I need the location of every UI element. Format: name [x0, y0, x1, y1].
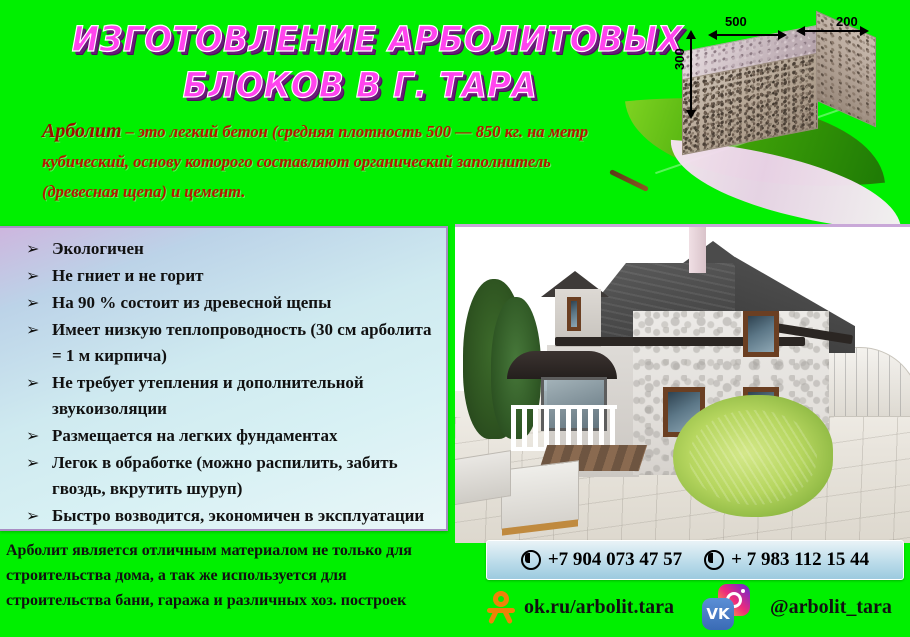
phone-icon: [521, 550, 541, 570]
instagram-vk-link[interactable]: VK @arbolit_tara: [674, 584, 892, 630]
poster-canvas: ИЗГОТОВЛЕНИЕ АРБОЛИТОВЫХ БЛОКОВ В Г. ТАР…: [0, 0, 910, 637]
social-links-row: ok.ru/arbolit.tara VK @arbolit_tara: [486, 582, 902, 632]
list-item-label: Не требует утепления и дополнительной зв…: [52, 373, 364, 418]
intro-line-2: кубический, основу которого составляют о…: [42, 149, 682, 175]
summary-text: Арболит является отличным материалом не …: [6, 538, 466, 613]
house-scene: [455, 227, 910, 543]
chevron-bullet-icon: ➢: [26, 290, 39, 316]
features-panel: ➢ Экологичен ➢ Не гниет и не горит ➢ На …: [0, 226, 448, 531]
summary-line-2: строительства дома, а так же используетс…: [6, 563, 466, 588]
dimension-line-width: [800, 30, 866, 32]
list-item: ➢ Имеет низкую теплопроводность (30 см а…: [22, 317, 436, 369]
intro-paragraph: Арболит – это легкий бетон (средняя плот…: [42, 118, 682, 209]
phone-number-2-label: + 7 983 112 15 44: [731, 549, 869, 571]
window: [743, 311, 779, 357]
odnoklassniki-handle: ok.ru/arbolit.tara: [524, 596, 674, 619]
dimension-line-length: [712, 34, 784, 36]
odnoklassniki-icon: [486, 591, 516, 623]
arrow-head-left-width: [796, 26, 805, 36]
ok-arms-shape: [487, 608, 515, 613]
arrow-head-left-length: [708, 30, 717, 40]
list-item: ➢ Не гниет и не горит: [22, 263, 436, 289]
summary-line-1: Арболит является отличным материалом не …: [6, 538, 466, 563]
chevron-bullet-icon: ➢: [26, 423, 39, 449]
block-pallet: [501, 460, 579, 530]
list-item: ➢ Быстро возводится, экономичен в эксплу…: [22, 503, 436, 529]
list-item-label: На 90 % состоит из древесной щепы: [52, 293, 331, 312]
dimension-label-length: 500: [725, 14, 747, 29]
summary-line-3: строительства бани, гаража и различных х…: [6, 588, 466, 613]
phone-number-1[interactable]: +7 904 073 47 57: [521, 549, 682, 571]
list-item-label: Экологичен: [52, 239, 144, 258]
instagram-handle: @arbolit_tara: [770, 596, 892, 619]
chevron-bullet-icon: ➢: [26, 263, 39, 289]
arrow-head-right-length: [778, 30, 787, 40]
intro-line-3: (древесная щепа) и цемент.: [42, 179, 682, 205]
phone-icon: [704, 550, 724, 570]
phone-number-1-label: +7 904 073 47 57: [548, 549, 682, 571]
contact-panel: +7 904 073 47 57 + 7 983 112 15 44: [486, 540, 904, 580]
social-icon-cluster: VK: [696, 584, 762, 630]
chimney: [689, 224, 706, 273]
list-item: ➢ Экологичен: [22, 236, 436, 262]
chevron-bullet-icon: ➢: [26, 236, 39, 262]
dimension-line-height: [690, 36, 692, 114]
intro-text-1: – это легкий бетон (средняя плотность 50…: [122, 122, 589, 141]
intro-lead-word: Арболит: [42, 120, 122, 142]
title-line-1: ИЗГОТОВЛЕНИЕ АРБОЛИТОВЫХ: [72, 18, 649, 62]
ok-head-shape: [493, 591, 509, 607]
list-item-label: Быстро возводится, экономичен в эксплуат…: [52, 506, 424, 525]
list-item: ➢ Легок в обработке (можно распилить, за…: [22, 450, 436, 502]
vk-icon[interactable]: VK: [702, 598, 734, 630]
bush-icon: [673, 395, 833, 517]
title-line-2: БЛОКОВ В Г. ТАРА: [72, 64, 649, 108]
list-item-label: Размещается на легких фундаментах: [52, 426, 337, 445]
list-item-label: Имеет низкую теплопроводность (30 см арб…: [52, 320, 432, 365]
chevron-bullet-icon: ➢: [26, 317, 39, 343]
chevron-bullet-icon: ➢: [26, 450, 39, 476]
phone-number-2[interactable]: + 7 983 112 15 44: [704, 549, 869, 571]
list-item: ➢ Размещается на легких фундаментах: [22, 423, 436, 449]
dimension-label-width: 200: [836, 14, 858, 29]
house-photo: [455, 224, 910, 543]
intro-line-1: Арболит – это легкий бетон (средняя плот…: [42, 118, 682, 145]
list-item-label: Не гниет и не горит: [52, 266, 204, 285]
features-list: ➢ Экологичен ➢ Не гниет и не горит ➢ На …: [22, 236, 436, 529]
window: [567, 297, 581, 331]
list-item-label: Легок в обработке (можно распилить, заби…: [52, 453, 398, 498]
porch-roof: [507, 351, 617, 379]
arrow-head-bottom-height: [686, 110, 696, 119]
chevron-bullet-icon: ➢: [26, 503, 39, 529]
arrow-head-right-width: [860, 26, 869, 36]
dimension-label-height: 300: [672, 48, 687, 70]
page-title: ИЗГОТОВЛЕНИЕ АРБОЛИТОВЫХ БЛОКОВ В Г. ТАР…: [50, 18, 670, 108]
odnoklassniki-link[interactable]: ok.ru/arbolit.tara: [486, 591, 674, 623]
arrow-head-top-height: [686, 30, 696, 39]
chevron-bullet-icon: ➢: [26, 370, 39, 396]
list-item: ➢ На 90 % состоит из древесной щепы: [22, 290, 436, 316]
block-3d-body: [682, 38, 872, 138]
list-item: ➢ Не требует утепления и дополнительной …: [22, 370, 436, 422]
